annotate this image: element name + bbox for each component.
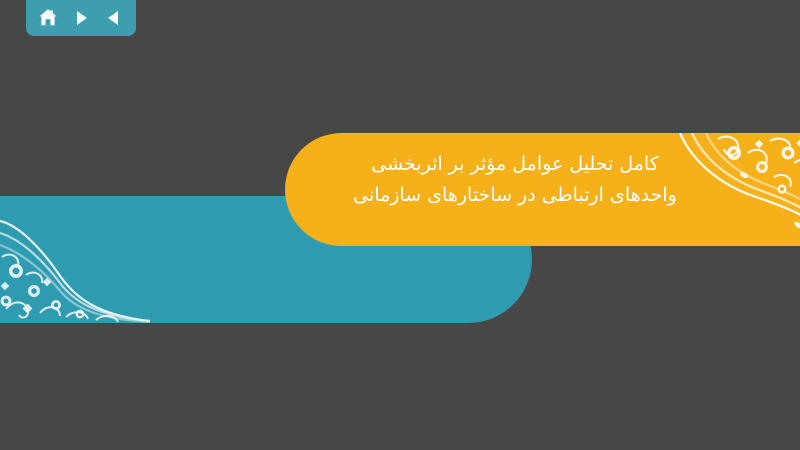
arabesque-corner-ornament-mirrored	[0, 213, 150, 323]
home-icon	[37, 7, 59, 29]
yellow-title-band: کامل تحلیل عوامل مؤثر بر اثربخشی واحدهای…	[285, 133, 800, 246]
home-button[interactable]	[35, 5, 61, 31]
slide-title-line-2: واحدهای ارتباطی در ساختارهای سازمانی	[335, 180, 695, 211]
slide-canvas: کامل تحلیل عوامل مؤثر بر اثربخشی واحدهای…	[0, 0, 800, 450]
previous-slide-button[interactable]	[101, 5, 127, 31]
slide-title-line-1: کامل تحلیل عوامل مؤثر بر اثربخشی	[335, 149, 695, 180]
slide-title: کامل تحلیل عوامل مؤثر بر اثربخشی واحدهای…	[335, 149, 695, 211]
left-triangle-icon	[104, 8, 124, 28]
right-triangle-icon	[71, 8, 91, 28]
slide-navigation-bar	[26, 0, 136, 36]
next-slide-button[interactable]	[68, 5, 94, 31]
